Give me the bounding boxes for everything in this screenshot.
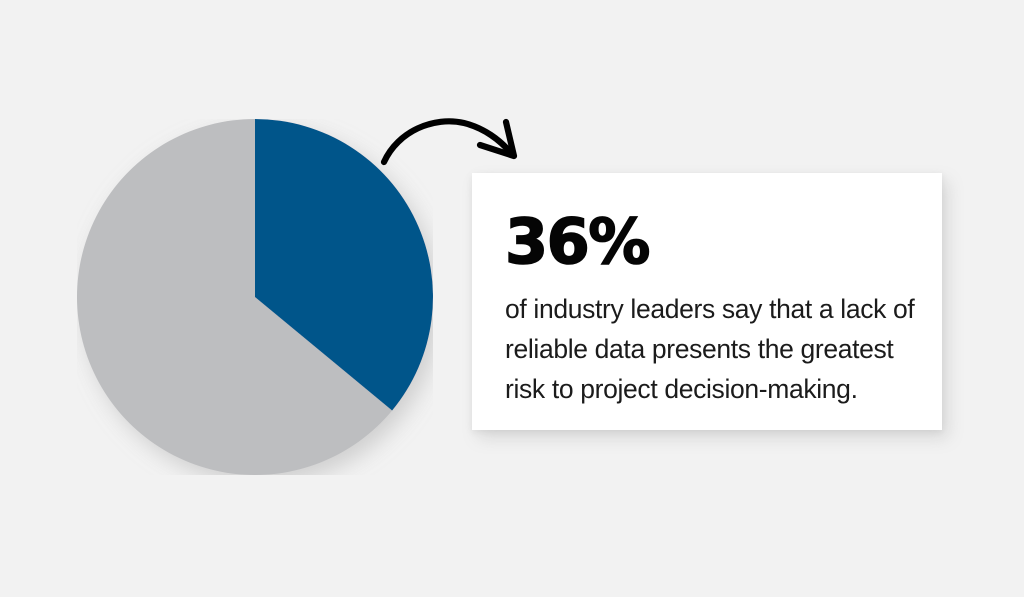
stat-body-line-1: of industry leaders say that a lack of bbox=[505, 289, 912, 329]
curved-arrow-icon bbox=[372, 104, 537, 176]
stat-card: 36% of industry leaders say that a lack … bbox=[472, 173, 942, 430]
arrow-shaft bbox=[384, 121, 511, 162]
stat-figure: 36% bbox=[505, 211, 912, 273]
infographic-canvas: 36% of industry leaders say that a lack … bbox=[0, 0, 1024, 597]
stat-body-line-2: reliable data presents the greatest bbox=[505, 329, 912, 369]
stat-body: of industry leaders say that a lack of r… bbox=[505, 289, 912, 409]
stat-body-line-3: risk to project decision-making. bbox=[505, 369, 912, 409]
